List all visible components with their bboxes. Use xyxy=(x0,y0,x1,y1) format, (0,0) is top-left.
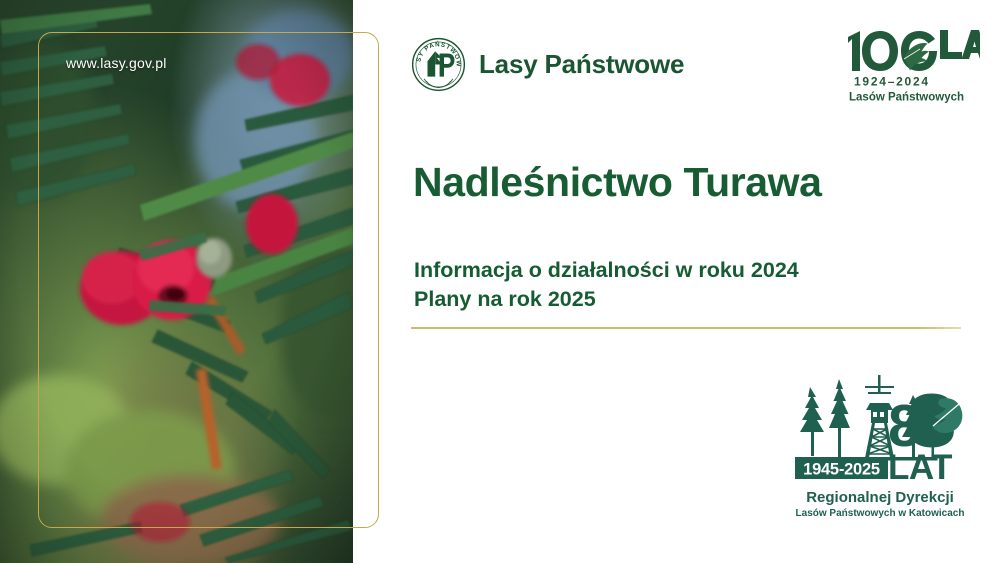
page-subtitle: Informacja o działalności w roku 2024 Pl… xyxy=(414,256,799,313)
anniversary-80-years-rdlp-logo: 80 1945-2025 LAT Regionalnej Dyrekcji La… xyxy=(790,366,970,523)
anniversary-100-years-logo: 1924–2024 Lasów Państwowych xyxy=(845,28,980,104)
slide-content-area: LASY PAŃSTWOWE Lasy Państwowe xyxy=(411,0,1000,563)
subtitle-line-2: Plany na rok 2025 xyxy=(414,285,799,314)
lasy-panstwowe-wordmark: Lasy Państwowe xyxy=(479,49,684,80)
lasy-panstwowe-emblem-icon: LASY PAŃSTWOWE xyxy=(411,37,466,92)
website-url-overlay: www.lasy.gov.pl xyxy=(66,55,167,71)
presentation-title-slide: www.lasy.gov.pl LASY PAŃSTWOWE xyxy=(0,0,1000,563)
page-title: Nadleśnictwo Turawa xyxy=(413,159,822,206)
gold-divider-line xyxy=(411,327,961,329)
svg-text:Lasów Państwowych: Lasów Państwowych xyxy=(849,92,964,104)
anniversary-80-years-badge: 1945-2025 xyxy=(803,461,880,479)
svg-text:LAT: LAT xyxy=(888,448,952,487)
svg-text:1924–2024: 1924–2024 xyxy=(854,75,930,89)
subtitle-line-1: Informacja o działalności w roku 2024 xyxy=(414,256,799,285)
lasy-panstwowe-logo: LASY PAŃSTWOWE Lasy Państwowe xyxy=(411,37,684,92)
anniversary-80-caption-line-1: Regionalnej Dyrekcji xyxy=(806,489,954,506)
yew-branch-with-red-arils-photo: www.lasy.gov.pl xyxy=(0,0,353,563)
anniversary-80-caption-line-2: Lasów Państwowych w Katowicach xyxy=(796,508,965,519)
